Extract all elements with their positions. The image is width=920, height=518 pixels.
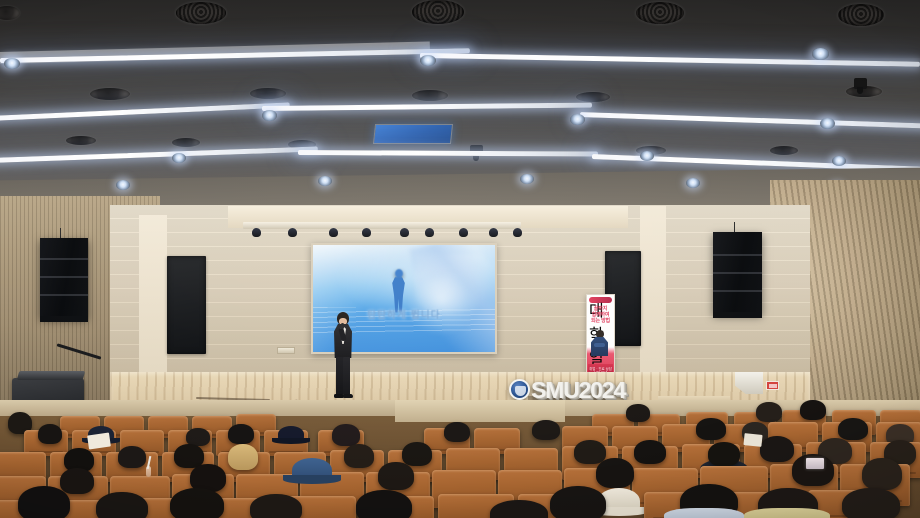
audience-head-foreground	[18, 486, 70, 518]
university-crest-icon	[509, 379, 530, 400]
ceiling-spot-light	[262, 110, 277, 121]
presenter	[330, 312, 356, 402]
audience-cap-blue	[292, 458, 332, 482]
ceiling-spot-light	[686, 178, 700, 188]
audience-cap	[278, 426, 304, 442]
audience-head	[378, 462, 414, 490]
speaker-seam	[40, 258, 88, 260]
audience-head	[626, 404, 650, 422]
smu2024-stage-logo: SMU2024	[509, 379, 625, 400]
audience-head	[402, 442, 432, 466]
audience-shoulders-yellow	[744, 508, 830, 518]
paper-sheet	[743, 433, 762, 447]
speaker-seam	[713, 254, 762, 256]
presenter-leg-left	[336, 357, 343, 395]
ceiling-spot-light	[420, 55, 436, 66]
ceiling-recessed-fixture	[66, 136, 96, 145]
audience-head	[532, 420, 560, 440]
ceiling-spot-light	[570, 114, 585, 125]
audience-head	[574, 440, 606, 464]
ceiling-spot-light	[318, 176, 332, 186]
banner-headline-line3: 되는 방법	[589, 318, 612, 324]
ceiling-recessed-fixture	[250, 88, 286, 99]
audience-head	[634, 440, 666, 464]
ceiling-mounted-projector	[854, 78, 867, 89]
slide-silhouette-figure	[391, 269, 407, 313]
audience-head	[760, 436, 794, 462]
audience-head	[596, 458, 634, 488]
speaker-seam	[713, 290, 762, 292]
ceiling-recessed-fixture	[770, 146, 798, 155]
audience-head	[708, 442, 740, 466]
speaker-seam	[40, 276, 88, 278]
stage-light-rail	[243, 222, 521, 229]
audience-head	[60, 468, 94, 494]
ceiling-air-vent	[176, 2, 226, 24]
audience-head	[862, 458, 902, 490]
audience-head	[228, 424, 254, 444]
ceiling-light-strip	[0, 146, 318, 163]
stage-spotlight	[288, 228, 297, 237]
audience-head-foreground	[250, 494, 302, 518]
audience-seating-area	[0, 400, 920, 518]
ceiling-blue-panel	[373, 124, 453, 144]
ceiling-air-vent	[412, 0, 464, 24]
ceiling-light-strip	[298, 150, 598, 157]
banner-top-strip: 대학일자리플러스센터	[589, 297, 612, 303]
audience-head-foreground	[842, 488, 900, 518]
audience-head	[444, 422, 470, 442]
ceiling-spot-light	[4, 58, 20, 69]
stage-spotlight	[425, 228, 434, 237]
audience-phone	[806, 458, 824, 469]
audience-head-foreground	[170, 488, 224, 518]
ceiling-air-vent	[636, 2, 684, 24]
banner-headline: 끝까지 함께하여 되는 방법	[589, 306, 612, 324]
audience-head-foreground	[550, 486, 606, 518]
stage-spotlight	[513, 228, 522, 237]
stage-spotlight	[362, 228, 371, 237]
audience-head	[800, 400, 826, 420]
ceiling-light-strip	[580, 112, 920, 129]
line-array-speaker-left	[40, 238, 88, 318]
stage-spotlight	[329, 228, 338, 237]
ceiling-spot-light	[520, 174, 534, 184]
stage-spotlight	[459, 228, 468, 237]
stage-spotlight	[400, 228, 409, 237]
ceiling-recessed-fixture	[172, 138, 200, 147]
microphone	[341, 323, 344, 329]
presenter-shoe-right	[343, 394, 353, 398]
ceiling-recessed-fixture	[90, 88, 130, 100]
audience-head	[228, 444, 258, 470]
cap-brim	[272, 438, 309, 444]
banner-person-photo	[591, 330, 608, 356]
exit-sign	[766, 381, 779, 390]
audience-head	[118, 446, 146, 468]
audience-head	[332, 424, 360, 446]
speaker-seam	[40, 294, 88, 296]
ceiling-spot-light	[116, 180, 130, 190]
audience-head	[38, 424, 62, 444]
stage-spotlight	[252, 228, 261, 237]
ceiling-recessed-fixture	[412, 90, 448, 101]
audience-head-foreground	[96, 492, 148, 518]
audience-head	[344, 444, 374, 468]
banner-person-head	[596, 330, 604, 338]
cap-brim	[283, 475, 341, 484]
audience-head-foreground	[356, 490, 412, 518]
ceiling-spot-light	[812, 48, 829, 60]
speaker-seam	[713, 272, 762, 274]
ceiling-spot-light	[640, 151, 654, 161]
acoustic-panel-left	[167, 256, 206, 354]
stage-spotlight	[489, 228, 498, 237]
auditorium-photo: 탄탄하게 뜁니다 대학일자리플러스센터 끝까지 함께하여 되는 방법 취업 · …	[0, 0, 920, 518]
silhouette-head	[395, 269, 403, 278]
audience-shoulders	[664, 508, 744, 518]
presenter-leg-right	[343, 357, 350, 395]
stage-wall-control-panel[interactable]	[277, 347, 295, 354]
ceiling-spot-light	[172, 153, 186, 163]
audience-head-foreground	[490, 500, 548, 518]
smu2024-logo-text: SMU2024	[531, 380, 625, 400]
ceiling-light-strip	[262, 103, 592, 111]
ceiling-spot-light	[820, 118, 835, 129]
av-cart-surface	[17, 371, 86, 380]
banner-person-arms	[594, 343, 605, 347]
audience-head	[756, 402, 782, 422]
ceiling-spot-light	[832, 156, 846, 166]
center-aisle	[395, 400, 565, 422]
ceiling-recessed-fixture	[576, 92, 610, 102]
ceiling-air-vent	[838, 4, 884, 26]
audience-head	[838, 418, 868, 440]
event-roll-up-banner: 대학일자리플러스센터 끝까지 함께하여 되는 방법 취업 · 진로 상담 신청 …	[586, 294, 615, 380]
audience-head	[696, 418, 726, 440]
ceiling-light-strip	[0, 102, 290, 121]
line-array-speaker-right	[713, 232, 762, 314]
